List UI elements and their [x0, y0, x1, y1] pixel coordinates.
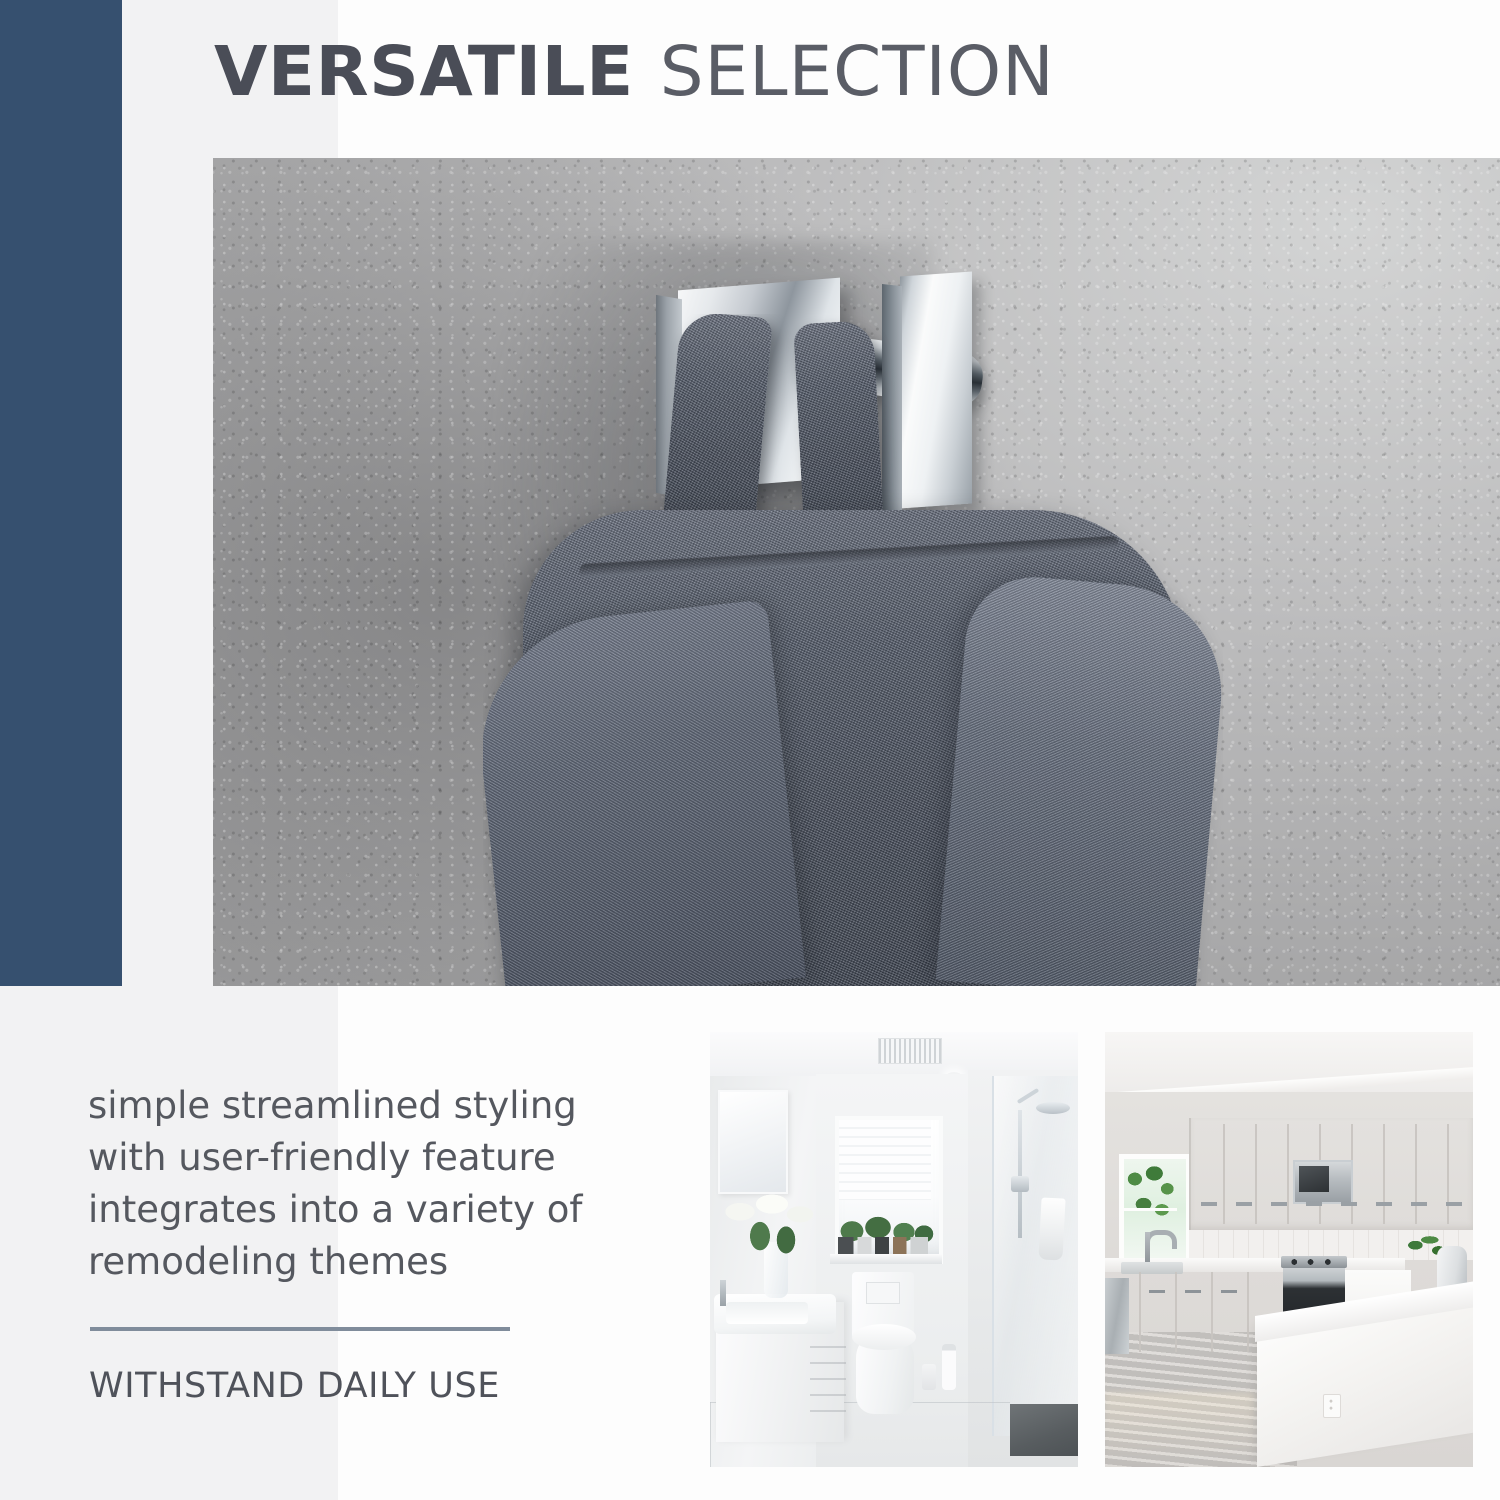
towel-fold-left — [483, 599, 806, 986]
feature-description-line-2: with user-friendly feature — [88, 1132, 608, 1184]
bathroom-rainfall-showerhead-icon — [1036, 1102, 1070, 1114]
bathroom-vanity-drawer-lines — [810, 1332, 846, 1418]
feature-description-line-4: remodeling themes — [88, 1236, 608, 1288]
kitchen-window-foliage — [1123, 1158, 1177, 1228]
product-feature-page: VERSATILESELECTION simple streamlined st… — [0, 0, 1500, 1500]
bathroom-shower-valve — [1011, 1176, 1029, 1192]
bathroom-white-towel — [1038, 1197, 1065, 1260]
bathroom-shower-riser — [1018, 1110, 1022, 1238]
kitchen-lower-cabinet-handles — [1113, 1290, 1249, 1293]
page-title: VERSATILESELECTION — [214, 38, 1055, 107]
hero-product-image — [213, 158, 1500, 986]
section-divider — [90, 1327, 510, 1331]
tagline: WITHSTAND DAILY USE — [89, 1366, 500, 1406]
towel-fold-right — [936, 571, 1223, 986]
feature-description: simple streamlined styling with user-fri… — [88, 1080, 608, 1288]
feature-description-line-3: integrates into a variety of — [88, 1184, 608, 1236]
thumbnail-bathroom — [710, 1032, 1078, 1467]
bathroom-toilet-paper-holder — [942, 1344, 956, 1390]
accent-blue-bar — [0, 0, 122, 986]
kitchen-upper-cabinet-handles — [1201, 1202, 1467, 1206]
bathroom-faucet-icon — [720, 1280, 726, 1306]
feature-description-line-1: simple streamlined styling — [88, 1080, 608, 1132]
kitchen-microwave-window — [1299, 1166, 1329, 1192]
gray-towel — [483, 314, 1223, 986]
kitchen-dishwasher — [1105, 1278, 1129, 1354]
kitchen-outlet-sockets-icon — [1327, 1398, 1335, 1412]
bathroom-shower-floor — [1010, 1404, 1078, 1456]
bathroom-shower-glass-panel — [992, 1076, 1078, 1436]
bathroom-window-blind — [839, 1120, 931, 1200]
bathroom-flush-plate — [866, 1282, 900, 1304]
bathroom-vent-icon — [878, 1038, 942, 1064]
page-title-light: SELECTION — [660, 32, 1055, 112]
bathroom-windowsill — [830, 1254, 942, 1264]
bathroom-sink-bowl — [726, 1302, 808, 1324]
kitchen-burners-icon — [1285, 1258, 1343, 1266]
bathroom-toilet-brush — [922, 1364, 936, 1390]
bathroom-mirror — [718, 1090, 788, 1194]
bathroom-white-flowers — [720, 1190, 820, 1254]
page-title-strong: VERSATILE — [214, 32, 634, 112]
kitchen-faucet-stem — [1145, 1232, 1150, 1264]
bathroom-toilet-lid — [852, 1324, 916, 1350]
thumbnail-kitchen — [1105, 1032, 1473, 1467]
kitchen-window-mullion — [1123, 1208, 1177, 1211]
kitchen-floor-reflection — [1105, 1392, 1255, 1467]
